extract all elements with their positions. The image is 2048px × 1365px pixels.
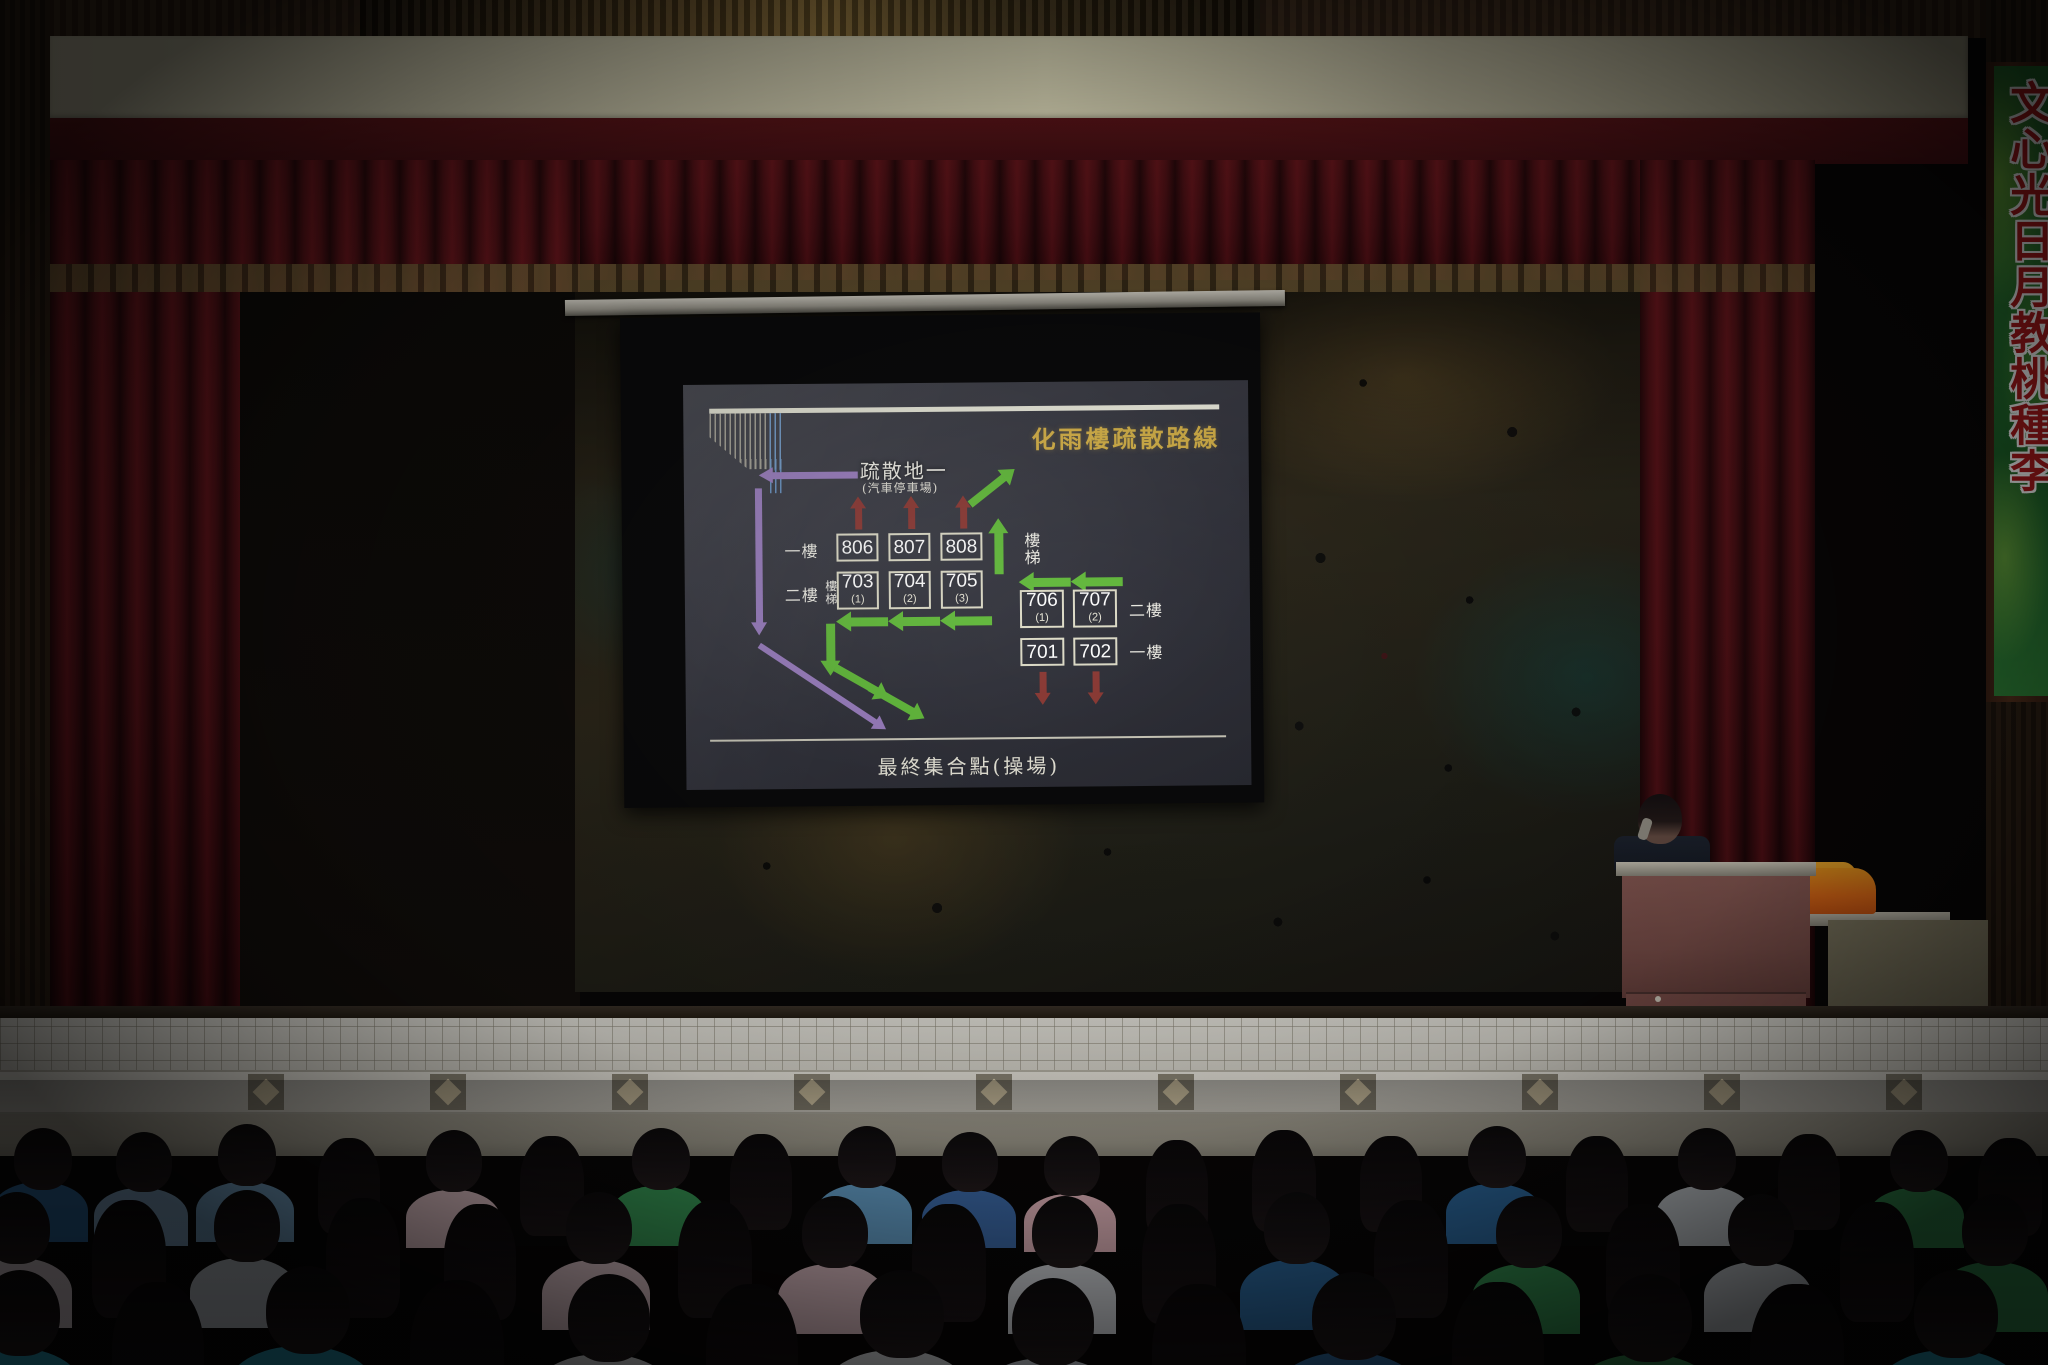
center-stairs-label: 樓梯: [1018, 532, 1042, 566]
room-box: 705 (3): [941, 570, 983, 608]
room-sublabel: (3): [955, 591, 969, 608]
room-box: 702: [1073, 637, 1117, 665]
arrow-up-808: [960, 507, 967, 529]
proscenium-beam: [48, 36, 1968, 120]
assembly-point-label: 最終集合點(操場): [686, 748, 1251, 782]
curtain-fringe: [50, 264, 1815, 292]
center-stairs-up-arrow: [994, 532, 1003, 574]
room-number: 705: [946, 572, 978, 591]
proscenium-red-band: [48, 118, 1968, 164]
exit-arrow-703: [850, 617, 888, 626]
room-number: 706: [1026, 591, 1058, 610]
center-stairs-diagonal-arrow: [968, 474, 1007, 508]
hall-pillar-left: [0, 0, 50, 1020]
room-box: 704 (2): [889, 571, 931, 609]
room-box: 707 (2): [1073, 589, 1117, 627]
left-block-floor2-label: 二樓: [785, 582, 819, 606]
banner-text: 文心光日月教桃種李: [1996, 80, 2048, 494]
exit-arrow-707: [1085, 577, 1123, 586]
room-box: 701: [1020, 638, 1064, 666]
arrow-up-806: [855, 507, 862, 529]
room-box: 706 (1): [1020, 590, 1064, 628]
arrow-down-702: [1093, 671, 1100, 693]
arrow-up-807: [908, 507, 915, 529]
right-block-floor2-label: 二樓: [1129, 597, 1163, 621]
evacuation-point-sublabel: (汽車停車場): [862, 479, 939, 497]
stairs-down-arrow-left: [826, 624, 835, 662]
podium-indicator-dot: [1655, 996, 1661, 1002]
exit-arrow-705: [954, 616, 992, 625]
slide-top-rule: [709, 404, 1219, 413]
room-box: 703 (1): [837, 571, 879, 609]
podium-body: [1622, 876, 1810, 998]
exit-arrow-704: [902, 617, 940, 626]
auditorium-scene: 化雨樓疏散路線 疏散地一 (汽車停車場) 一樓 二樓 樓梯 806 807: [0, 0, 2048, 1365]
school-banner: 文心光日月教桃種李: [1994, 66, 2048, 696]
backstage-shadow: [240, 292, 580, 1032]
left-block-floor1-label: 一樓: [784, 538, 818, 562]
room-sublabel: (1): [851, 592, 865, 609]
room-number: 806: [841, 538, 873, 557]
room-number: 707: [1079, 591, 1111, 610]
room-box: 806: [836, 533, 878, 561]
slide-bottom-rule: [710, 735, 1226, 742]
evacuation-arrow-west: [772, 471, 858, 479]
room-number: 807: [893, 537, 925, 556]
evacuation-arrow-south: [755, 488, 763, 623]
room-box: 807: [888, 533, 930, 561]
right-block-floor1-label: 一樓: [1129, 639, 1163, 663]
room-number: 704: [894, 572, 926, 591]
slide-title: 化雨樓疏散路線: [1031, 418, 1220, 455]
projected-slide: 化雨樓疏散路線 疏散地一 (汽車停車場) 一樓 二樓 樓梯 806 807: [683, 380, 1252, 790]
arrow-down-701: [1040, 672, 1047, 694]
podium-top: [1616, 862, 1816, 876]
room-sublabel: (2): [1088, 610, 1102, 627]
room-sublabel: (1): [1035, 610, 1049, 627]
room-sublabel: (2): [903, 591, 917, 608]
room-number: 808: [945, 537, 977, 556]
room-number: 703: [842, 573, 874, 592]
exit-arrow-706: [1033, 578, 1071, 587]
stage-curtain-valance: [580, 160, 1815, 280]
seated-audience: [0, 1080, 2048, 1365]
room-box: 808: [940, 532, 982, 560]
room-number: 701: [1026, 642, 1058, 661]
ceiling-wood-panel-lit: [360, 0, 1260, 38]
room-number: 702: [1079, 642, 1111, 661]
